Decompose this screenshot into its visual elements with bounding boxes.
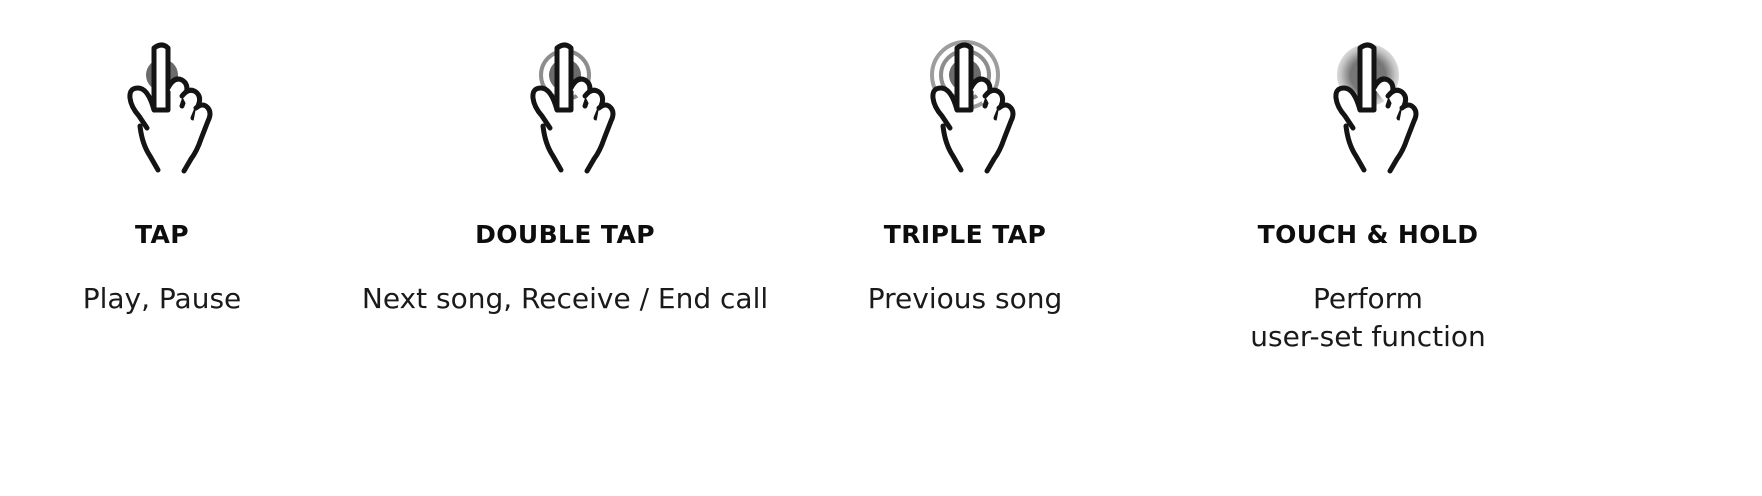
hand-double-tap-icon xyxy=(485,24,645,174)
gesture-description: Previous song xyxy=(745,280,1185,318)
gesture-description: Play, Pause xyxy=(0,280,382,318)
gesture-description: Next song, Receive / End call xyxy=(345,280,785,318)
gesture-title: TAP xyxy=(0,220,382,250)
gesture-title: TOUCH & HOLD xyxy=(1148,220,1588,250)
description-line: Previous song xyxy=(745,280,1185,318)
gesture-title: TRIPLE TAP xyxy=(745,220,1185,250)
gesture-card-triple-tap: TRIPLE TAP Previous song xyxy=(745,0,1185,496)
hand-pointing-icon xyxy=(1316,28,1420,174)
description-line: Next song, Receive / End call xyxy=(345,280,785,318)
gesture-title: DOUBLE TAP xyxy=(345,220,785,250)
description-line: Play, Pause xyxy=(0,280,382,318)
hand-tap-icon xyxy=(82,24,242,174)
gesture-card-double-tap: DOUBLE TAP Next song, Receive / End call xyxy=(345,0,785,496)
gesture-card-touch-and-hold: TOUCH & HOLD Perform user-set function xyxy=(1148,0,1588,496)
hand-pointing-icon xyxy=(913,28,1017,174)
gesture-description: Perform user-set function xyxy=(1148,280,1588,356)
hand-triple-tap-icon xyxy=(885,24,1045,174)
description-line: user-set function xyxy=(1148,318,1588,356)
hand-pointing-icon xyxy=(513,28,617,174)
description-line: Perform xyxy=(1148,280,1588,318)
hand-pointing-icon xyxy=(110,28,214,174)
hand-touch-hold-icon xyxy=(1288,24,1448,174)
gesture-card-tap: TAP Play, Pause xyxy=(0,0,382,496)
gesture-board: TAP Play, Pause DOUBLE TAP xyxy=(0,0,1762,496)
